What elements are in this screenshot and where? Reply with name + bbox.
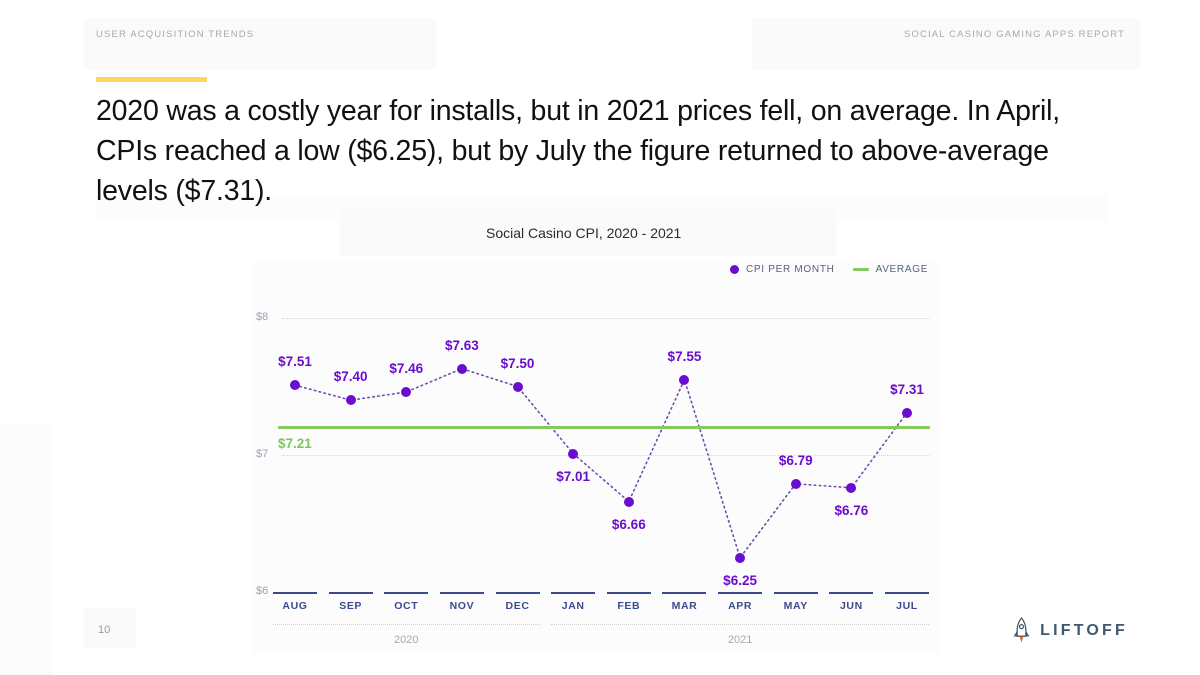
- x-axis-tick: [551, 592, 595, 594]
- x-axis-tick: [329, 592, 373, 594]
- chart-gridline: [282, 455, 930, 456]
- average-line-label: $7.21: [278, 436, 312, 451]
- rocket-icon: [1012, 617, 1031, 644]
- chart-plot-area: $6$7$8$7.21$7.51$7.40$7.46$7.63$7.50$7.0…: [252, 300, 940, 610]
- year-group-label: 2020: [394, 634, 418, 646]
- year-group-label: 2021: [728, 634, 752, 646]
- average-line: [278, 426, 930, 429]
- data-point-label: $6.79: [779, 453, 813, 468]
- data-point-marker[interactable]: [902, 408, 912, 418]
- x-axis-month-label: APR: [728, 600, 752, 612]
- slide: USER ACQUISITION TRENDS SOCIAL CASINO GA…: [0, 0, 1200, 675]
- x-axis-tick: [774, 592, 818, 594]
- data-point-label: $7.01: [556, 469, 590, 484]
- data-point-marker[interactable]: [735, 553, 745, 563]
- x-axis-month-label: SEP: [339, 600, 362, 612]
- data-point-label: $7.51: [278, 354, 312, 369]
- year-group-rule: [273, 624, 540, 625]
- x-axis-tick: [718, 592, 762, 594]
- data-point-label: $7.40: [334, 369, 368, 384]
- page-title: 2020 was a costly year for installs, but…: [96, 91, 1096, 211]
- chart-x-axis: AUGSEPOCTNOVDECJANFEBMARAPRMAYJUNJUL2020…: [252, 592, 940, 662]
- header-left-label: USER ACQUISITION TRENDS: [96, 29, 254, 40]
- x-axis-month-label: NOV: [450, 600, 475, 612]
- chart-gridline: [282, 318, 930, 319]
- legend-line-icon: [853, 268, 869, 271]
- chart-legend: CPI PER MONTH AVERAGE: [730, 264, 928, 275]
- x-axis-month-label: AUG: [282, 600, 307, 612]
- data-point-label: $6.66: [612, 517, 646, 532]
- data-point-marker[interactable]: [624, 497, 634, 507]
- x-axis-tick: [440, 592, 484, 594]
- legend-label: AVERAGE: [876, 264, 929, 275]
- x-axis-month-label: MAY: [784, 600, 808, 612]
- y-axis-tick-label: $7: [256, 448, 268, 460]
- x-axis-tick: [496, 592, 540, 594]
- data-point-label: $7.46: [389, 361, 423, 376]
- x-axis-month-label: JAN: [562, 600, 585, 612]
- x-axis-month-label: OCT: [394, 600, 418, 612]
- data-point-marker[interactable]: [568, 449, 578, 459]
- x-axis-tick: [384, 592, 428, 594]
- data-point-marker[interactable]: [513, 382, 523, 392]
- x-axis-month-label: MAR: [672, 600, 698, 612]
- x-axis-month-label: JUL: [896, 600, 918, 612]
- data-point-marker[interactable]: [346, 395, 356, 405]
- liftoff-logo: LIFTOFF: [1012, 617, 1128, 644]
- data-point-label: $6.25: [723, 573, 757, 588]
- bg-panel: [752, 18, 1140, 70]
- accent-bar: [96, 77, 207, 82]
- legend-item-average: AVERAGE: [853, 264, 929, 275]
- x-axis-tick: [607, 592, 651, 594]
- data-point-marker[interactable]: [401, 387, 411, 397]
- data-point-marker[interactable]: [457, 364, 467, 374]
- y-axis-tick-label: $8: [256, 311, 268, 323]
- data-point-label: $7.63: [445, 338, 479, 353]
- data-point-marker[interactable]: [846, 483, 856, 493]
- data-point-marker[interactable]: [290, 380, 300, 390]
- year-group-rule: [551, 624, 929, 625]
- bg-panel: [84, 18, 436, 70]
- logo-text: LIFTOFF: [1040, 622, 1128, 640]
- x-axis-month-label: DEC: [506, 600, 530, 612]
- data-point-marker[interactable]: [679, 375, 689, 385]
- data-point-label: $6.76: [834, 503, 868, 518]
- x-axis-tick: [829, 592, 873, 594]
- data-point-label: $7.31: [890, 382, 924, 397]
- bg-panel: [0, 424, 52, 675]
- data-point-marker[interactable]: [791, 479, 801, 489]
- legend-label: CPI PER MONTH: [746, 264, 835, 275]
- page-number: 10: [98, 624, 110, 636]
- legend-dot-icon: [730, 265, 739, 274]
- x-axis-month-label: JUN: [840, 600, 863, 612]
- data-point-label: $7.50: [501, 356, 535, 371]
- x-axis-month-label: FEB: [617, 600, 640, 612]
- x-axis-tick: [662, 592, 706, 594]
- x-axis-tick: [885, 592, 929, 594]
- chart-title: Social Casino CPI, 2020 - 2021: [486, 225, 681, 241]
- data-point-label: $7.55: [668, 349, 702, 364]
- header-right-label: SOCIAL CASINO GAMING APPS REPORT: [904, 29, 1125, 40]
- legend-item-cpi: CPI PER MONTH: [730, 264, 835, 275]
- x-axis-tick: [273, 592, 317, 594]
